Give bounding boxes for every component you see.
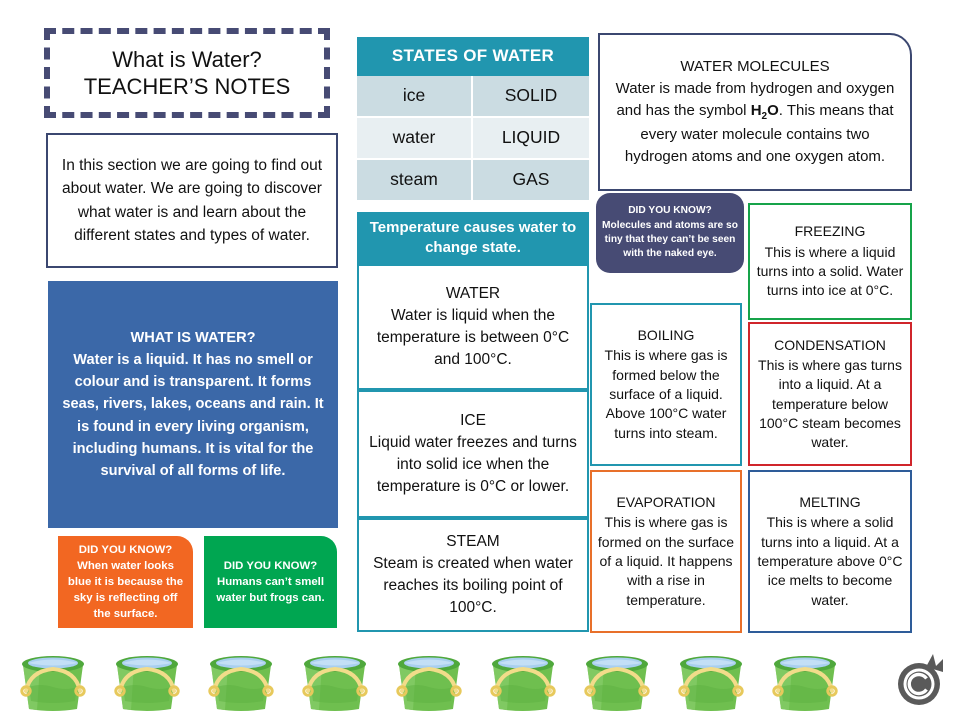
bucket-icon [762,647,848,719]
did-you-know-purple: DID YOU KNOW? Molecules and atoms are so… [596,193,744,273]
copyright-logo-icon [893,650,955,714]
did-you-know-purple-heading: DID YOU KNOW? [628,204,712,218]
table-row: steam GAS [357,158,589,200]
intro-text: In this section we are going to find out… [56,154,328,247]
molecules-symbol-h: H [751,102,762,119]
what-is-water-box: WHAT IS WATER? Water is a liquid. It has… [48,281,338,528]
process-freezing-title: FREEZING [795,222,866,241]
bucket-icon [292,647,378,719]
did-you-know-orange: DID YOU KNOW? When water looks blue it i… [58,536,193,628]
process-box-evaporation: EVAPORATION This is where gas is formed … [590,470,742,633]
bucket-icon [574,647,660,719]
temperature-cell-steam: STEAM Steam is created when water reache… [357,518,589,632]
water-molecules-box: WATER MOLECULES Water is made from hydro… [598,33,912,191]
states-table-cell-state: LIQUID [473,118,589,158]
bucket-icon [198,647,284,719]
what-is-water-heading: WHAT IS WATER? [130,327,255,349]
temperature-cell-ice-title: ICE [460,410,486,432]
worksheet-page: What is Water? TEACHER’S NOTES In this s… [0,0,960,720]
states-table-cell-state: GAS [473,160,589,200]
did-you-know-green-body: Humans can’t smell water but frogs can. [210,574,331,606]
process-box-boiling: BOILING This is where gas is formed belo… [590,303,742,466]
did-you-know-green-heading: DID YOU KNOW? [224,558,317,574]
process-freezing-body: This is where a liquid turns into a soli… [755,243,905,301]
process-boiling-body: This is where gas is formed below the su… [597,346,735,443]
bucket-icon [668,647,754,719]
table-row: water LIQUID [357,116,589,158]
process-boiling-title: BOILING [638,326,695,345]
did-you-know-purple-body: Molecules and atoms are so tiny that the… [602,219,738,262]
table-row: ice SOLID [357,76,589,116]
page-title: What is Water? TEACHER’S NOTES [44,28,330,118]
intro-text-box: In this section we are going to find out… [46,133,338,268]
process-box-freezing: FREEZING This is where a liquid turns in… [748,203,912,320]
process-box-melting: MELTING This is where a solid turns into… [748,470,912,633]
bucket-icon [10,647,96,719]
temperature-header: Temperature causes water to change state… [357,212,589,264]
temperature-cell-water-body: Water is liquid when the temperature is … [364,305,582,371]
temperature-cell-steam-body: Steam is created when water reaches its … [364,553,582,619]
temperature-cell-ice-body: Liquid water freezes and turns into soli… [364,432,582,498]
process-evaporation-title: EVAPORATION [616,493,715,512]
water-molecules-body: Water is made from hydrogen and oxygen a… [609,78,901,168]
bucket-decoration-strip [0,645,960,720]
process-box-condensation: CONDENSATION This is where gas turns int… [748,322,912,466]
what-is-water-body: Water is a liquid. It has no smell or co… [56,349,330,482]
did-you-know-orange-body: When water looks blue it is because the … [64,558,187,623]
water-molecules-title: WATER MOLECULES [680,56,829,78]
bucket-icon [386,647,472,719]
process-evaporation-body: This is where gas is formed on the surfa… [597,513,735,610]
process-condensation-title: CONDENSATION [774,336,886,355]
temperature-cell-water-title: WATER [446,283,500,305]
process-melting-title: MELTING [799,493,860,512]
did-you-know-green: DID YOU KNOW? Humans can’t smell water b… [204,536,337,628]
states-table-header: STATES OF WATER [357,37,589,76]
bucket-icon [104,647,190,719]
process-melting-body: This is where a solid turns into a liqui… [755,513,905,610]
states-of-water-table: STATES OF WATER ice SOLID water LIQUID s… [357,37,589,200]
states-table-cell-name: steam [357,160,473,200]
states-table-cell-name: ice [357,76,473,116]
molecules-symbol-o: O [767,102,779,119]
temperature-cell-steam-title: STEAM [446,531,499,553]
molecules-symbol: H2O [751,102,779,119]
did-you-know-orange-heading: DID YOU KNOW? [79,542,172,558]
temperature-cell-ice: ICE Liquid water freezes and turns into … [357,390,589,518]
page-title-line2: TEACHER’S NOTES [84,73,291,101]
process-condensation-body: This is where gas turns into a liquid. A… [755,356,905,453]
page-title-line1: What is Water? [112,46,262,74]
states-table-cell-name: water [357,118,473,158]
bucket-icon [480,647,566,719]
states-table-cell-state: SOLID [473,76,589,116]
temperature-cell-water: WATER Water is liquid when the temperatu… [357,264,589,390]
